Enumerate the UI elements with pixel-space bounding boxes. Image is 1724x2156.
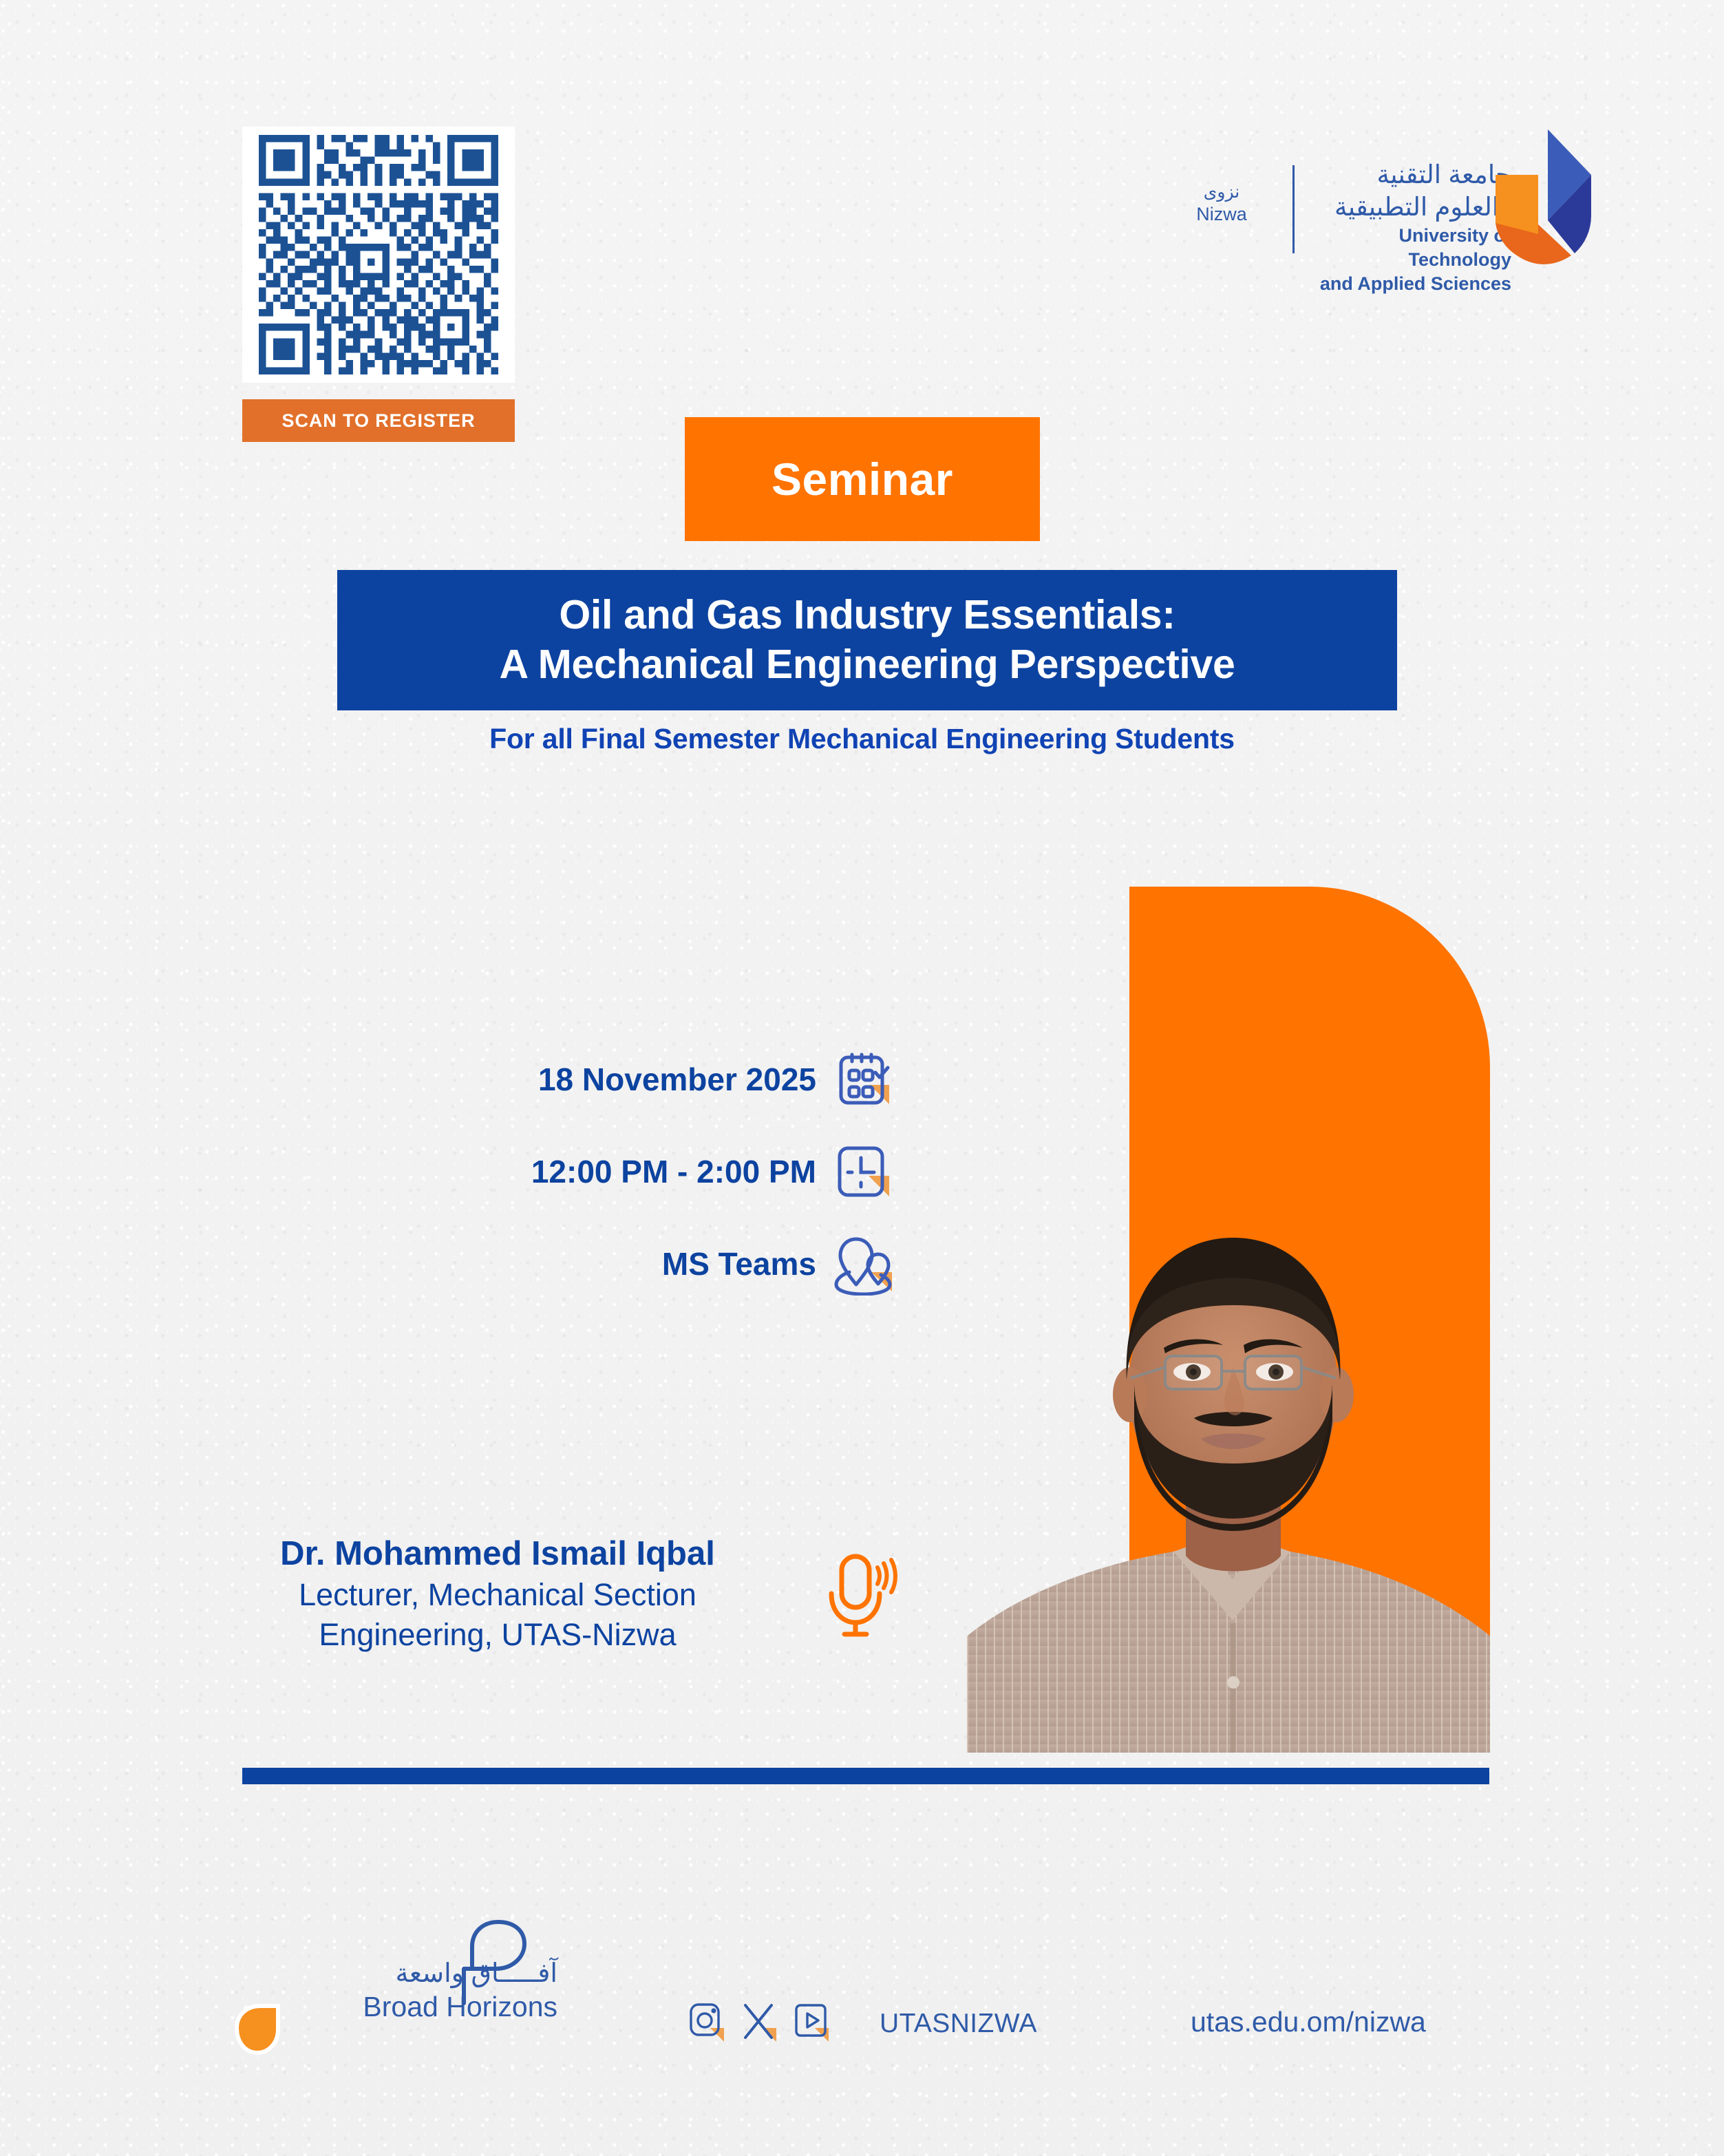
- logo-name-en-line2: and Applied Sciences: [1306, 272, 1511, 296]
- title-line-1: Oil and Gas Industry Essentials:: [559, 591, 1175, 640]
- logo-divider: [1292, 165, 1295, 253]
- title-line-2: A Mechanical Engineering Perspective: [499, 640, 1235, 690]
- speaker-role-line2: Engineering, UTAS-Nizwa: [172, 1615, 823, 1656]
- university-logo: نزوى Nizwa جامعة التقنية والعلوم التطبيق…: [1170, 125, 1610, 284]
- logo-campus-block: نزوى Nizwa: [1170, 182, 1273, 226]
- page-subtitle: For all Final Semester Mechanical Engine…: [0, 723, 1724, 755]
- broad-horizons-logo: آفـــــاق واسعة Broad Horizons: [234, 1907, 557, 2065]
- clock-icon: [831, 1140, 895, 1203]
- speaker-text: Dr. Mohammed Ismail Iqbal Lecturer, Mech…: [172, 1534, 823, 1656]
- logo-name-en-line1: University of Technology: [1306, 224, 1511, 272]
- detail-date-label: 18 November 2025: [538, 1061, 816, 1098]
- location-pins-icon: [831, 1232, 895, 1296]
- logo-name-ar-line2: والعلوم التطبيقية: [1306, 191, 1511, 223]
- youtube-icon[interactable]: [793, 2002, 830, 2043]
- microphone-icon: [826, 1550, 902, 1639]
- detail-venue: MS Teams: [220, 1232, 895, 1296]
- speaker-name: Dr. Mohammed Ismail Iqbal: [172, 1534, 823, 1575]
- broad-horizons-logo-icon: [234, 2003, 284, 2055]
- logo-campus-name-en: Nizwa: [1170, 203, 1273, 226]
- seminar-badge: Seminar: [685, 417, 1040, 541]
- qr-code-card: [242, 127, 515, 383]
- blue-divider-rule: [242, 1768, 1489, 1784]
- instagram-icon[interactable]: [688, 2002, 725, 2043]
- logo-campus-name-ar: نزوى: [1170, 182, 1273, 203]
- detail-date: 18 November 2025: [220, 1048, 895, 1111]
- logo-university-name: جامعة التقنية والعلوم التطبيقية Universi…: [1306, 158, 1511, 296]
- calendar-check-icon: [831, 1048, 895, 1111]
- detail-time: 12:00 PM - 2:00 PM: [220, 1140, 895, 1203]
- seminar-poster: SCAN TO REGISTER نزوى Nizwa جامعة التقني…: [0, 0, 1724, 2156]
- detail-venue-label: MS Teams: [662, 1245, 816, 1282]
- broad-horizons-hook-icon: [453, 1919, 533, 2009]
- utas-u-mark-icon: [1493, 125, 1610, 278]
- x-twitter-icon[interactable]: [741, 2002, 778, 2043]
- page-title: Oil and Gas Industry Essentials: A Mecha…: [337, 570, 1397, 710]
- seminar-badge-label: Seminar: [771, 453, 953, 505]
- speaker-block: Dr. Mohammed Ismail Iqbal Lecturer, Mech…: [172, 1534, 902, 1656]
- detail-time-label: 12:00 PM - 2:00 PM: [531, 1153, 816, 1190]
- social-links: [688, 2002, 830, 2043]
- qr-code-icon[interactable]: [259, 135, 498, 374]
- speaker-role-line1: Lecturer, Mechanical Section: [172, 1575, 823, 1616]
- scan-to-register-button[interactable]: SCAN TO REGISTER: [242, 399, 515, 442]
- scan-to-register-label: SCAN TO REGISTER: [282, 410, 476, 432]
- speaker-portrait: [967, 1207, 1490, 1753]
- website-url[interactable]: utas.edu.om/nizwa: [1191, 2006, 1426, 2038]
- social-handle: UTASNIZWA: [880, 2009, 1037, 2039]
- logo-name-ar-line1: جامعة التقنية: [1306, 158, 1511, 191]
